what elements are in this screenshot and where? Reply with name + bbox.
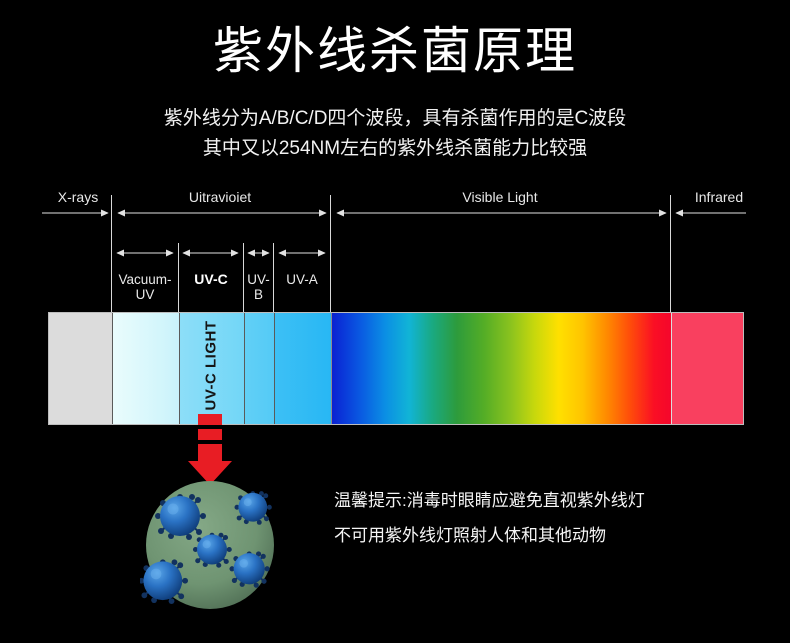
subband-label-vacuum-uv: Vacuum- UV xyxy=(112,272,178,302)
band-arrows xyxy=(40,205,750,221)
page-subtitle: 紫外线分为A/B/C/D四个波段，具有杀菌作用的是C波段 其中又以254NM左右… xyxy=(0,104,790,164)
spectrum-segment-uvb xyxy=(244,313,274,424)
band-label-ultraviolet: Uitravioiet xyxy=(120,189,320,205)
virus-particle xyxy=(140,559,188,604)
virus-particle xyxy=(235,491,272,525)
spectrum-hairline-5 xyxy=(331,313,332,424)
virus-particle xyxy=(229,551,269,587)
spectrum-hairline-3 xyxy=(244,313,245,424)
spectrum-hairline-6 xyxy=(671,313,672,424)
divider-visible-ir xyxy=(670,195,671,312)
spectrum-bar xyxy=(48,312,744,425)
subband-label-uvb-line1: UV- xyxy=(244,272,273,287)
spectrum-segment-visible xyxy=(331,313,671,424)
uv-subband-arrows xyxy=(112,245,336,261)
subband-label-vacuum-uv-line1: Vacuum- xyxy=(112,272,178,287)
subtitle-line-2: 其中又以254NM左右的紫外线杀菌能力比较强 xyxy=(0,134,790,164)
virus-particle xyxy=(155,494,206,540)
page-title: 紫外线杀菌原理 xyxy=(0,22,790,80)
subband-label-uvc: UV-C xyxy=(179,272,243,287)
spectrum-segment-vacuum-uv xyxy=(112,313,179,424)
band-label-visible-light: Visible Light xyxy=(350,189,650,205)
spectrum-hairline-4 xyxy=(274,313,275,424)
subband-label-uvb-line2: B xyxy=(244,287,273,302)
divider-uv-visible xyxy=(330,195,331,312)
spectrum-segment-xray xyxy=(49,313,112,424)
safety-note-2: 不可用紫外线灯照射人体和其他动物 xyxy=(334,524,606,548)
safety-note-1: 温馨提示:消毒时眼睛应避免直视紫外线灯 xyxy=(334,489,645,513)
spectrum-hairline-1 xyxy=(112,313,113,424)
spectrum-segment-uva xyxy=(274,313,331,424)
subband-label-uvb: UV- B xyxy=(244,272,273,302)
band-label-x-rays: X-rays xyxy=(38,189,118,205)
spectrum-segment-uvc xyxy=(179,313,244,424)
subtitle-line-1: 紫外线分为A/B/C/D四个波段，具有杀菌作用的是C波段 xyxy=(0,104,790,134)
virus-particle xyxy=(193,533,232,568)
band-label-infrared: Infrared xyxy=(664,189,774,205)
subband-label-vacuum-uv-line2: UV xyxy=(112,287,178,302)
spectrum-hairline-2 xyxy=(179,313,180,424)
germ-colony xyxy=(140,474,285,619)
spectrum-segment-infrared xyxy=(671,313,744,424)
infographic-root: 紫外线杀菌原理 紫外线分为A/B/C/D四个波段，具有杀菌作用的是C波段 其中又… xyxy=(0,0,790,643)
subband-label-uva: UV-A xyxy=(274,272,330,287)
